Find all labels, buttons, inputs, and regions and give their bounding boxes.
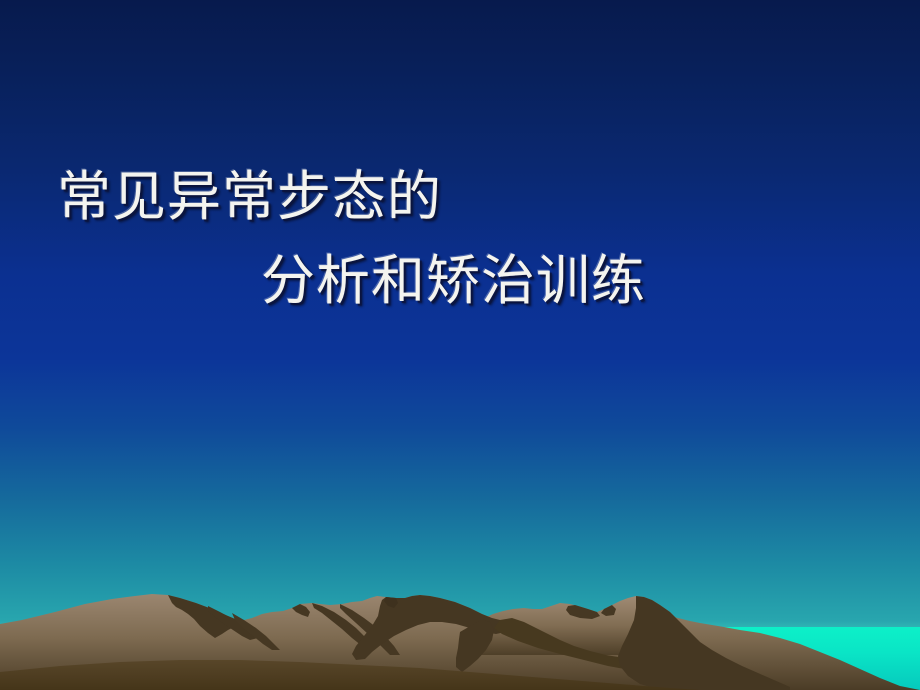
- presentation-slide: 常见异常步态的 分析和矫治训练: [0, 0, 920, 690]
- mountain-range-graphic: [0, 560, 920, 690]
